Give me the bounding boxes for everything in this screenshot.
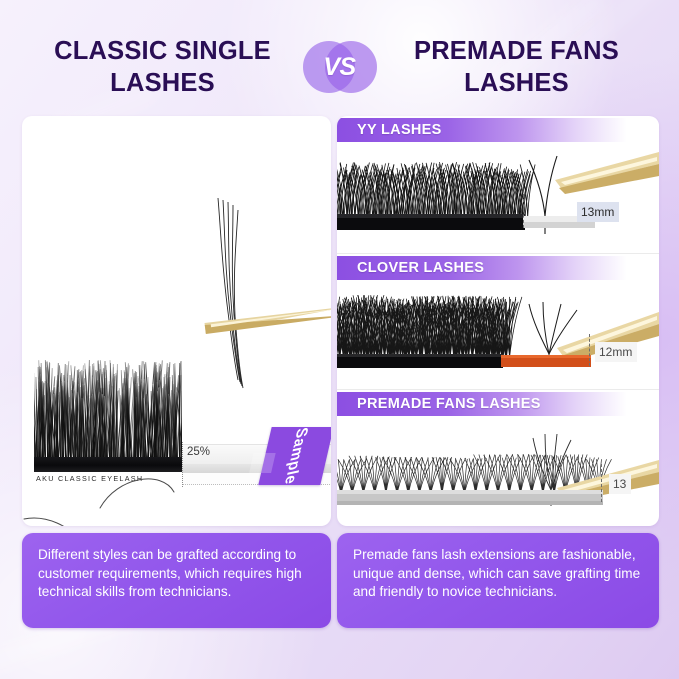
right-title: PREMADE FANS LASHES [381,35,653,99]
vs-badge: VS [301,37,379,97]
comparison-header: CLASSIC SINGLE LASHES VS PREMADE FANS LA… [0,28,679,106]
left-title: CLASSIC SINGLE LASHES [27,35,299,99]
premade-measure-tick-icon [601,464,602,502]
yy-lashes-illustration [337,116,659,252]
yy-measurement-label: 13mm [577,202,619,222]
vs-label: VS [323,53,355,82]
premade-fans-lashes-card: YY LASHES 13mm [337,116,659,526]
clover-lashes-section: CLOVER LASHES 12mm [337,253,659,388]
clover-lashes-illustration [337,254,659,388]
clover-measurement-label: 12mm [595,342,637,362]
yy-measure-tick-icon [523,194,524,228]
premade-fans-illustration [337,390,659,526]
classic-lashes-caption: Different styles can be grafted accordin… [22,533,331,628]
classic-lashes-artwork: AKU CLASSIC EYELASH 25% Sample [22,116,331,526]
premade-fans-section: PREMADE FANS LASHES 13 [337,389,659,526]
premade-fans-caption: Premade fans lash extensions are fashion… [337,533,659,628]
single-lash-curves [24,479,324,526]
yy-lashes-section: YY LASHES 13mm [337,116,659,252]
yy-tweezers-icon [555,152,659,194]
held-lash-strands [218,198,243,388]
classic-single-lashes-card: AKU CLASSIC EYELASH 25% Sample [22,116,331,526]
premade-measurement-label: 13 [609,474,631,494]
clover-measure-tick-icon [589,334,590,366]
